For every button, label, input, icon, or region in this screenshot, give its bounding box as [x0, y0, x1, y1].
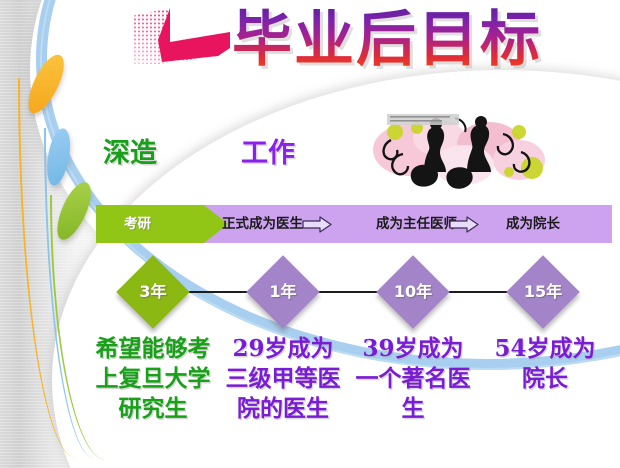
- timeline: 3年 1年 10年 15年: [0, 255, 620, 330]
- halftone-swoosh-logo-icon: [118, 6, 236, 68]
- process-step-director[interactable]: 成为院长: [506, 205, 560, 243]
- goal-caption-2: 29岁成为三级甲等医院的医生: [222, 334, 344, 424]
- page-title: 毕业后目标: [232, 4, 542, 76]
- goal-caption-3: 39岁成为一个著名医生: [352, 334, 474, 424]
- goal-caption-1: 希望能够考上复旦大学研究生: [92, 334, 214, 424]
- timeline-marker-1[interactable]: [116, 255, 190, 329]
- process-step-chief[interactable]: 成为主任医师: [376, 205, 457, 243]
- process-step-doctor[interactable]: 正式成为医生: [222, 205, 303, 243]
- process-banner-green-chevron[interactable]: [96, 205, 228, 243]
- process-step-kaoyan[interactable]: 考研: [124, 205, 151, 243]
- decorative-illustration: [369, 110, 549, 190]
- slide-canvas: 毕业后目标 毕业后目标 深造 工作: [0, 0, 620, 468]
- heading-further-study: 深造: [103, 131, 157, 170]
- right-arrow-outline-icon-1: [302, 216, 332, 233]
- timeline-marker-2[interactable]: [246, 255, 320, 329]
- right-arrow-outline-icon-2: [449, 216, 479, 233]
- timeline-marker-4[interactable]: [506, 255, 580, 329]
- heading-work: 工作: [241, 131, 295, 170]
- goal-caption-4: 54岁成为院长: [484, 334, 606, 394]
- process-banner: 考研 正式成为医生 成为主任医师 成为院长: [96, 205, 612, 243]
- timeline-marker-3[interactable]: [376, 255, 450, 329]
